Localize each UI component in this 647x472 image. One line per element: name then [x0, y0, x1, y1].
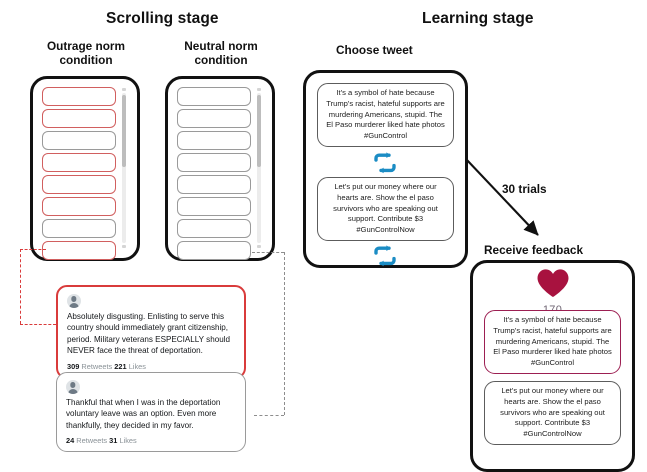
user-avatar-icon: [66, 380, 80, 394]
scrollbar-thumb[interactable]: [257, 95, 261, 167]
condition-title-neutral: Neutral norm condition: [160, 39, 282, 68]
example-tweet-stats: 24 Retweets 31 Likes: [66, 436, 236, 445]
feed-item[interactable]: [42, 153, 116, 172]
connector-outrage-top: [20, 249, 46, 250]
retweet-count: 24: [66, 436, 74, 445]
feed-item[interactable]: [42, 87, 116, 106]
feedback-option-outrage[interactable]: It's a symbol of hate because Trump's ra…: [484, 310, 621, 374]
scrollbar-cap-top: [122, 88, 126, 91]
connector-outrage-bottom: [20, 324, 56, 325]
like-count: 31: [109, 436, 117, 445]
example-tweet-text: Absolutely disgusting. Enlisting to serv…: [67, 311, 235, 357]
scrollbar-cap-bottom: [122, 245, 126, 248]
feed-item[interactable]: [42, 109, 116, 128]
condition-title-outrage: Outrage norm condition: [25, 39, 147, 68]
example-tweet-neutral: Thankful that when I was in the deportat…: [56, 372, 246, 452]
example-tweet-outrage: Absolutely disgusting. Enlisting to serv…: [56, 285, 246, 379]
example-tweet-stats: 309 Retweets 221 Likes: [67, 362, 235, 371]
choose-tweet-title: Choose tweet: [336, 43, 413, 57]
feedback-option-neutral[interactable]: Let's put our money where our hearts are…: [484, 381, 621, 445]
feed-item[interactable]: [177, 87, 251, 106]
scrollbar-cap-top: [257, 88, 261, 91]
feedback-like-display: 170: [473, 268, 632, 316]
connector-outrage-vertical: [20, 249, 21, 324]
scrollbar-cap-bottom: [257, 245, 261, 248]
feed-item[interactable]: [42, 219, 116, 238]
user-avatar-icon: [67, 294, 81, 308]
feed-item[interactable]: [177, 153, 251, 172]
connector-neutral-vertical: [284, 252, 285, 415]
phone-neutral-condition: [165, 76, 275, 261]
example-tweet-text: Thankful that when I was in the deportat…: [66, 397, 236, 431]
retweet-count: 309: [67, 362, 79, 371]
feed-item[interactable]: [177, 241, 251, 260]
feed-item[interactable]: [177, 197, 251, 216]
stage-title-scrolling: Scrolling stage: [106, 10, 219, 28]
retweet-label: Retweets: [81, 362, 112, 371]
feed-item[interactable]: [42, 175, 116, 194]
retweet-icon[interactable]: [370, 245, 400, 272]
feed-item[interactable]: [177, 131, 251, 150]
like-label: Likes: [129, 362, 146, 371]
like-count: 221: [114, 362, 126, 371]
choose-tweet-option-neutral[interactable]: Let's put our money where our hearts are…: [317, 177, 454, 241]
stage-title-learning: Learning stage: [422, 10, 534, 28]
connector-neutral-top: [252, 252, 284, 253]
choose-tweet-option-outrage[interactable]: It's a symbol of hate because Trump's ra…: [317, 83, 454, 147]
phone-choose-tweet: It's a symbol of hate because Trump's ra…: [303, 70, 468, 268]
phone-outrage-condition: [30, 76, 140, 261]
arrow-down-right-icon: [462, 155, 562, 250]
connector-neutral-bottom: [254, 415, 284, 416]
feed-item[interactable]: [42, 241, 116, 260]
scrollbar-thumb[interactable]: [122, 95, 126, 167]
phone-receive-feedback: 170 It's a symbol of hate because Trump'…: [470, 260, 635, 472]
feed-item[interactable]: [42, 197, 116, 216]
retweet-icon[interactable]: [370, 152, 400, 179]
retweet-label: Retweets: [76, 436, 107, 445]
feed-item[interactable]: [177, 175, 251, 194]
heart-icon: [536, 268, 570, 298]
feed-item[interactable]: [42, 131, 116, 150]
trials-label: 30 trials: [502, 182, 547, 196]
feed-item[interactable]: [177, 219, 251, 238]
like-label: Likes: [119, 436, 136, 445]
feed-item[interactable]: [177, 109, 251, 128]
